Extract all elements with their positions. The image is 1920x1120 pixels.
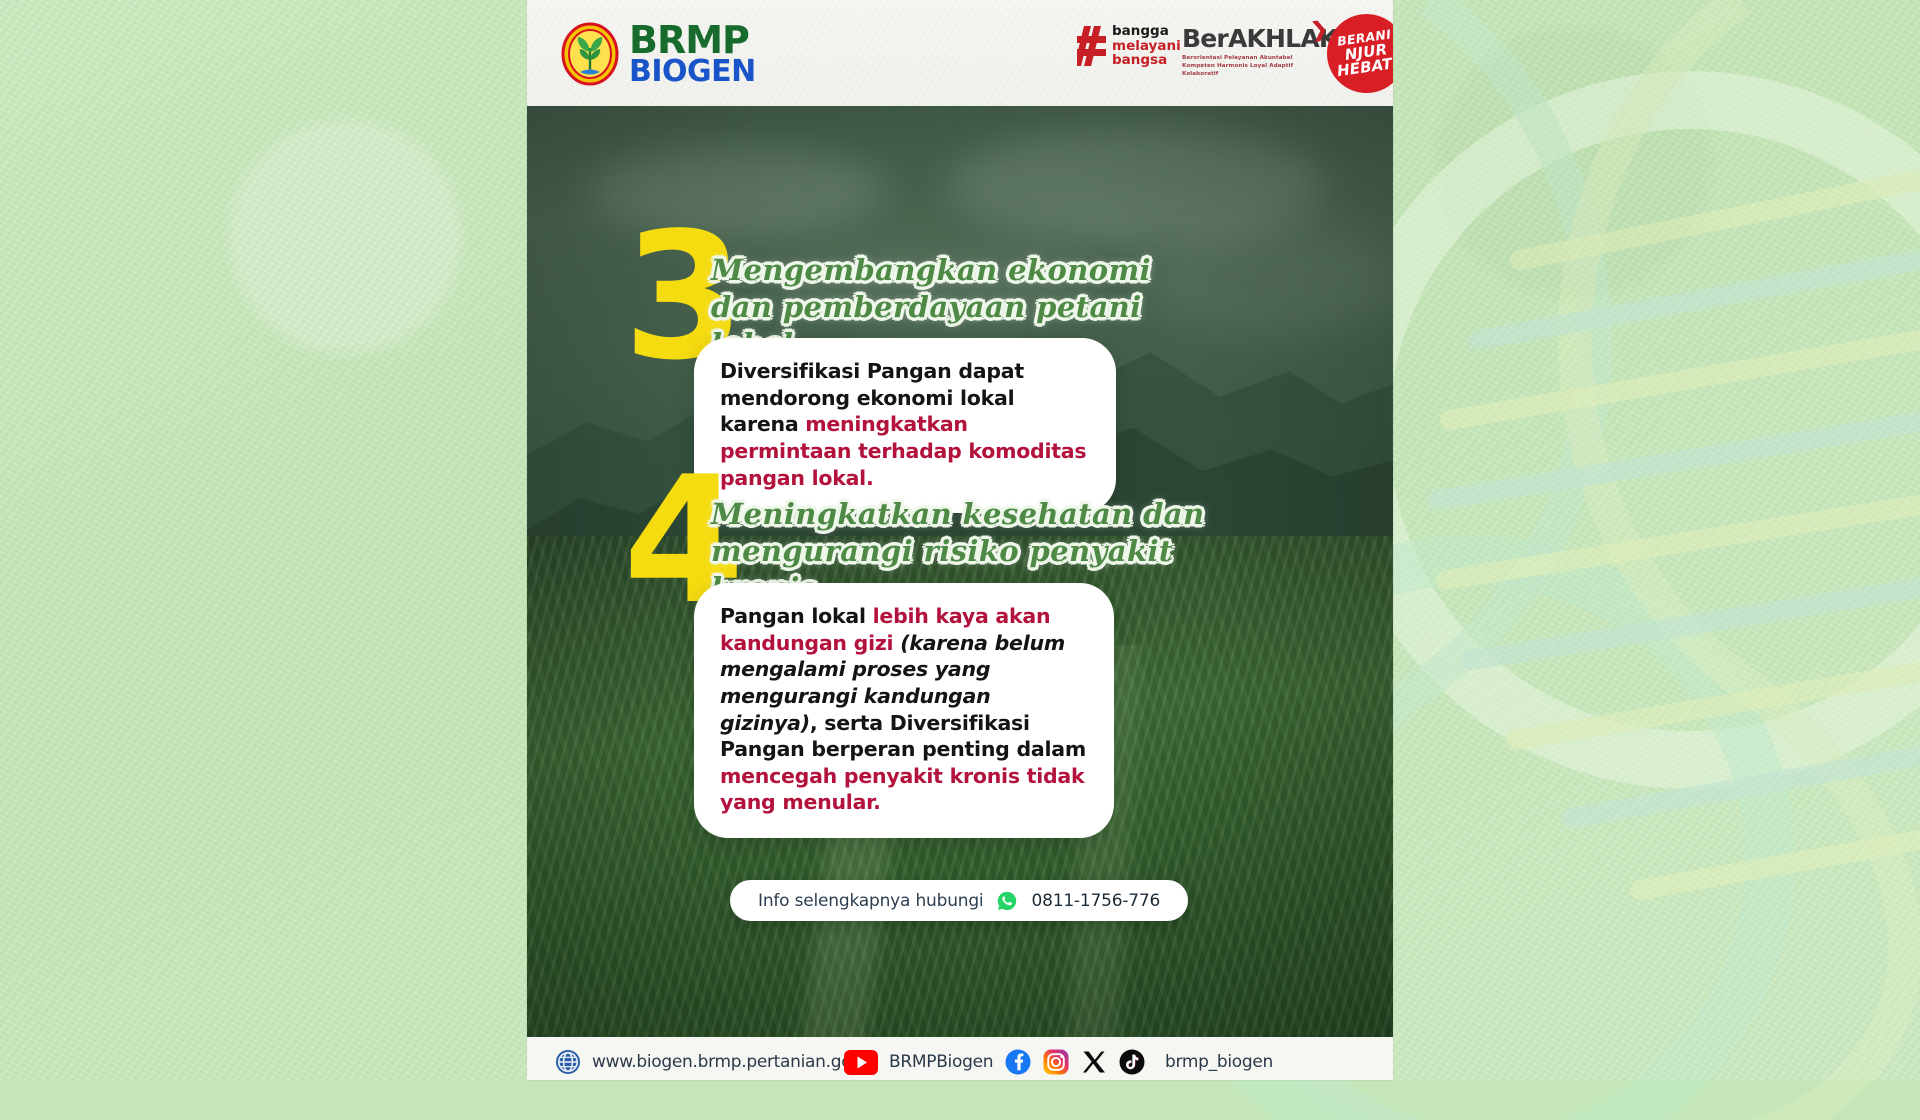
block-card-3: Diversifikasi Pangan dapat mendorong eko… xyxy=(694,338,1116,513)
brand-brmp-text: BRMP xyxy=(629,23,756,58)
x-icon[interactable] xyxy=(1081,1049,1107,1075)
contact-phone[interactable]: 0811-1756-776 xyxy=(1031,891,1160,911)
bangga-line-1: bangga xyxy=(1112,24,1181,39)
brand-biogen-text: BIOGEN xyxy=(629,58,756,86)
contact-pill[interactable]: Info selengkapnya hubungi 0811-1756-776 xyxy=(730,880,1188,921)
ministry-emblem-icon xyxy=(560,22,620,86)
berani-njur-hebat-badge: BERANI NJUR HEBAT! xyxy=(1327,14,1393,93)
berakhlak-logo: BerAKHLAK ❯ Berorientasi Pelayanan Akunt… xyxy=(1182,26,1322,78)
footer-youtube-text: BRMPBiogen xyxy=(889,1052,993,1072)
globe-icon xyxy=(555,1049,581,1075)
bangga-melayani-bangsa-logo: bangga melayani bangsa xyxy=(1077,24,1181,68)
footer-website-text: www.biogen.brmp.pertanian.go.id xyxy=(592,1052,871,1072)
block-card-4: Pangan lokal lebih kaya akan kandungan g… xyxy=(694,583,1114,838)
berakhlak-word: BerAKHLAK xyxy=(1182,26,1322,51)
footer-social-handle: brmp_biogen xyxy=(1165,1052,1273,1072)
contact-label: Info selengkapnya hubungi xyxy=(758,891,983,911)
whatsapp-icon xyxy=(996,890,1018,912)
poster-photo-background: 3 Mengembangkan ekonomi dan pemberdayaan… xyxy=(527,106,1393,1080)
chevron-icon: ❯ xyxy=(1310,16,1330,43)
instagram-icon[interactable] xyxy=(1043,1049,1069,1075)
poster: BRMP BIOGEN bangga melayani bangsa BerAK… xyxy=(527,0,1393,1080)
poster-footer: www.biogen.brmp.pertanian.go.id BRMPBiog… xyxy=(527,1037,1393,1080)
bangga-line-2: melayani xyxy=(1112,39,1181,54)
footer-youtube[interactable]: BRMPBiogen xyxy=(844,1050,993,1075)
brmp-biogen-logo: BRMP BIOGEN xyxy=(560,22,756,86)
facebook-icon[interactable] xyxy=(1005,1049,1031,1075)
youtube-icon xyxy=(844,1050,878,1075)
poster-header: BRMP BIOGEN bangga melayani bangsa BerAK… xyxy=(527,0,1393,106)
tiktok-icon[interactable] xyxy=(1119,1049,1145,1075)
footer-social: brmp_biogen xyxy=(1005,1049,1273,1075)
block-body-4: Pangan lokal lebih kaya akan kandungan g… xyxy=(720,603,1088,816)
block-body-3: Diversifikasi Pangan dapat mendorong eko… xyxy=(720,358,1090,491)
footer-website[interactable]: www.biogen.brmp.pertanian.go.id xyxy=(555,1049,871,1075)
hash-icon xyxy=(1077,26,1106,66)
berakhlak-subtitle: Berorientasi Pelayanan Akuntabel Kompete… xyxy=(1182,54,1322,78)
bangga-line-3: bangsa xyxy=(1112,53,1181,68)
